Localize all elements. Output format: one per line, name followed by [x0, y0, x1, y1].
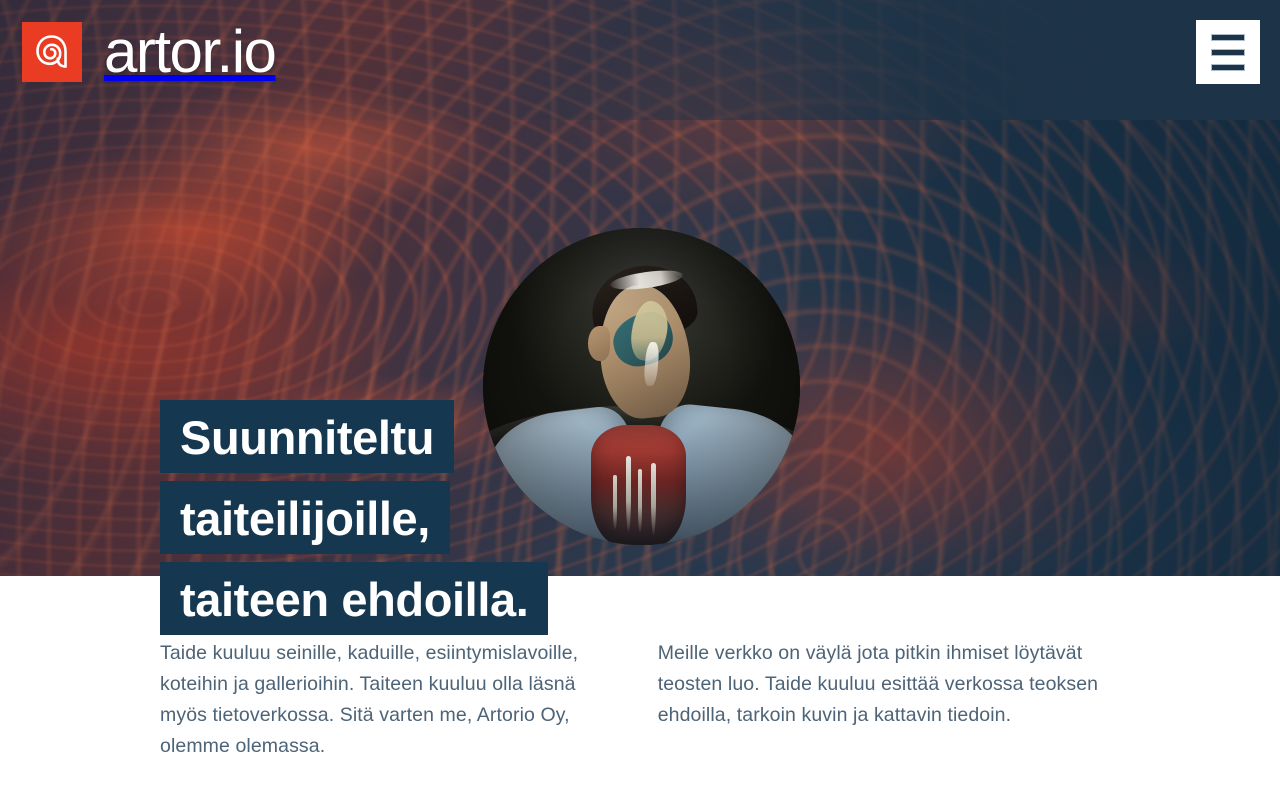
headline-line-1: Suunniteltu: [160, 400, 454, 473]
brand-logo-link[interactable]: artor.io: [22, 22, 275, 82]
hero-headline: Suunniteltu taiteilijoille, taiteen ehdo…: [160, 400, 548, 635]
headline-line-3: taiteen ehdoilla.: [160, 562, 548, 635]
headline-line-2: taiteilijoille,: [160, 481, 450, 554]
intro-paragraph-right: Meille verkko on väylä jota pitkin ihmis…: [658, 638, 1120, 762]
hamburger-icon-bar: [1211, 64, 1245, 71]
page-root: artor.io Suunniteltu taiteilijoille, tai…: [0, 0, 1280, 800]
spiral-logo-icon: [22, 22, 82, 82]
intro-paragraph-left: Taide kuuluu seinille, kaduille, esiinty…: [160, 638, 598, 762]
intro-section: Taide kuuluu seinille, kaduille, esiinty…: [160, 638, 1120, 762]
top-navigation: artor.io: [0, 0, 1280, 104]
hamburger-icon-bar: [1211, 49, 1245, 56]
brand-wordmark: artor.io: [104, 22, 275, 82]
hamburger-menu-button[interactable]: [1196, 20, 1260, 84]
hamburger-icon-bar: [1211, 34, 1245, 41]
